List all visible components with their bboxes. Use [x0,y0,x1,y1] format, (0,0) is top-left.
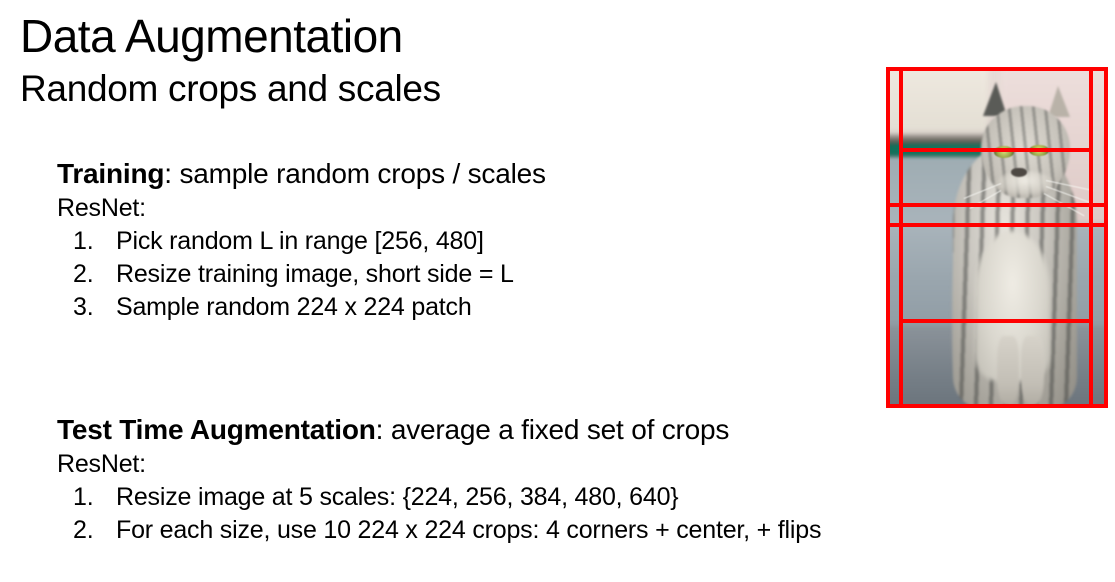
tta-step-list: 1.Resize image at 5 scales: {224, 256, 3… [57,481,821,547]
page-title: Data Augmentation [20,8,403,64]
list-item-text: Resize image at 5 scales: {224, 256, 384… [116,483,678,511]
cat-front-leg-left [997,336,1019,404]
tta-lead: Test Time Augmentation: average a fixed … [57,411,821,448]
tta-lead-bold: Test Time Augmentation [57,414,376,445]
cat-nose [1011,168,1027,177]
tta-sublabel: ResNet: [57,448,821,481]
training-step-list: 1.Pick random L in range [256, 480] 2.Re… [57,225,546,324]
cat-photo-figure [886,67,1108,408]
test-time-augmentation-section: Test Time Augmentation: average a fixed … [57,411,821,547]
page-subtitle: Random crops and scales [20,66,441,112]
training-lead: Training: sample random crops / scales [57,155,546,192]
list-item: 1.Resize image at 5 scales: {224, 256, 3… [57,481,821,514]
training-lead-rest: : sample random crops / scales [164,158,546,189]
photo-wall-left [886,67,988,132]
cat-photo-image [886,67,1108,408]
list-item-number: 2. [73,258,93,291]
list-item-text: Pick random L in range [256, 480] [116,227,484,255]
list-item: 2.Resize training image, short side = L [57,258,546,291]
list-item-number: 1. [73,481,93,514]
training-sublabel: ResNet: [57,192,546,225]
list-item: 3.Sample random 224 x 224 patch [57,291,546,324]
list-item-text: For each size, use 10 224 x 224 crops: 4… [116,516,821,544]
list-item-number: 1. [73,225,93,258]
training-lead-bold: Training [57,158,164,189]
cat-eye-left [994,146,1014,158]
list-item-number: 2. [73,514,93,547]
cat-front-leg-right [1021,336,1043,404]
list-item-text: Resize training image, short side = L [116,260,514,288]
list-item-text: Sample random 224 x 224 patch [116,293,472,321]
tta-lead-rest: : average a fixed set of crops [376,414,730,445]
cat-ear-right [1048,86,1070,117]
training-section: Training: sample random crops / scales R… [57,155,546,324]
list-item: 2.For each size, use 10 224 x 224 crops:… [57,514,821,547]
list-item: 1.Pick random L in range [256, 480] [57,225,546,258]
list-item-number: 3. [73,291,93,324]
